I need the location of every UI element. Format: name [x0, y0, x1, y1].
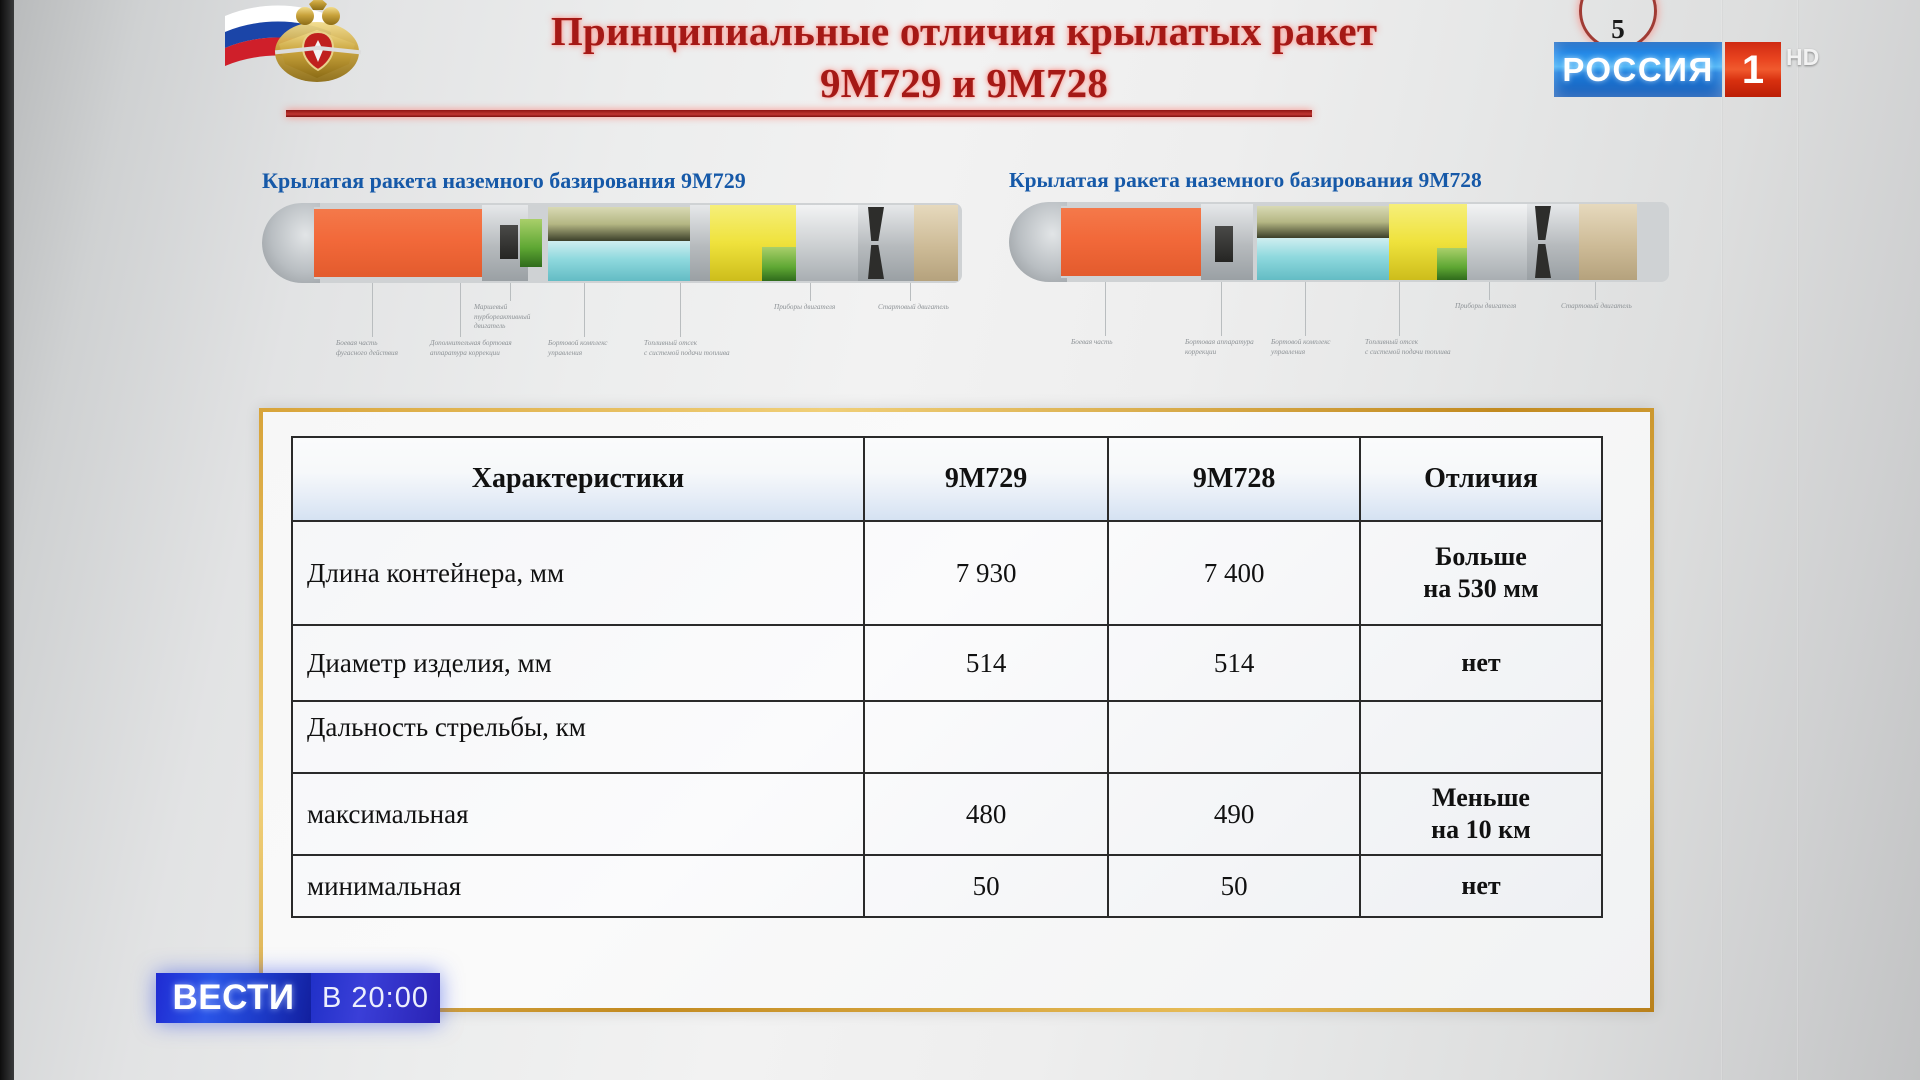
cell-value-9m728: 514 — [1108, 625, 1360, 701]
annotation-leader — [1595, 282, 1596, 300]
missile-section-booster — [1579, 204, 1637, 280]
cell-value-9m729: 50 — [864, 855, 1108, 917]
missile-section-nozzle — [1437, 248, 1471, 280]
missile-section-olive-tank — [1257, 206, 1389, 238]
cell-difference: Меньшена 10 км — [1360, 773, 1602, 855]
annotation-label: Маршевый турбореактивный двигатель — [474, 303, 560, 332]
screen-left-bezel — [0, 0, 14, 1080]
screen-panel-seam — [1797, 0, 1799, 1080]
annotation-label: Боевая часть фугасного действия — [336, 339, 422, 358]
column-header-9m728: 9М728 — [1108, 437, 1360, 521]
hd-badge: HD — [1786, 44, 1819, 71]
missile-nose-cone — [262, 203, 320, 283]
cell-difference: нет — [1360, 855, 1602, 917]
missile-section-instruments — [858, 205, 914, 281]
missile-section-olive-tank — [548, 207, 690, 241]
slide-header: Принципиальные отличия крылатых ракет 9М… — [14, 0, 1920, 128]
missile-cutaway-9m729 — [262, 203, 962, 283]
table-header-row: Характеристики 9М729 9М728 Отличия — [292, 437, 1602, 521]
missile-section-dark-bay — [1215, 226, 1233, 262]
slide-number: 5 — [1582, 14, 1654, 45]
channel-name-label: РОССИЯ — [1562, 51, 1713, 89]
cell-difference: Большена 530 мм — [1360, 521, 1602, 625]
missile-section-frame — [690, 205, 712, 281]
missile-section-green-bay — [520, 219, 542, 267]
annotation-label: Стартовый двигатель — [1561, 302, 1647, 312]
cell-value-9m729: 7 930 — [864, 521, 1108, 625]
title-underline-rule — [286, 110, 1312, 117]
cell-value-9m728: 7 400 — [1108, 521, 1360, 625]
channel-number-label: 1 — [1742, 50, 1764, 90]
missile-annotations-9m728: Боевая часть Бортовая аппаратура коррекц… — [1009, 282, 1669, 360]
channel-name-block: РОССИЯ — [1554, 42, 1722, 97]
annotation-leader — [680, 283, 681, 337]
screen-panel-seam — [1721, 0, 1723, 1080]
annotation-leader — [1489, 282, 1490, 300]
page-title: Принципиальные отличия крылатых ракет 9М… — [394, 6, 1534, 109]
annotation-leader — [1221, 282, 1222, 336]
annotation-leader — [584, 283, 585, 337]
program-name-label: ВЕСТИ — [172, 978, 294, 1018]
column-header-characteristics: Характеристики — [292, 437, 864, 521]
table-row: Дальность стрельбы, км — [292, 701, 1602, 773]
cell-parameter: Диаметр изделия, мм — [292, 625, 864, 701]
missile-warhead-section — [1061, 206, 1201, 278]
missile-section-dark-bay — [500, 225, 518, 259]
missile-caption-9m729: Крылатая ракета наземного базирования 9М… — [262, 168, 962, 194]
cell-parameter: Дальность стрельбы, км — [292, 701, 864, 773]
comparison-table: Характеристики 9М729 9М728 Отличия Длина… — [291, 436, 1603, 918]
missile-section-turbojet — [1467, 204, 1527, 280]
missile-caption-9m728: Крылатая ракета наземного базирования 9М… — [1009, 168, 1669, 193]
missile-section-instruments — [1527, 204, 1579, 280]
broadcast-frame: Принципиальные отличия крылатых ракет 9М… — [0, 0, 1920, 1080]
cell-value-9m729: 480 — [864, 773, 1108, 855]
table-row: Длина контейнера, мм 7 930 7 400 Большен… — [292, 521, 1602, 625]
annotation-leader — [460, 283, 461, 337]
annotation-leader — [1105, 282, 1106, 336]
missile-nose-cone — [1009, 202, 1067, 282]
table-row: минимальная 50 50 нет — [292, 855, 1602, 917]
annotation-label: Дополнительная бортовая аппаратура корре… — [430, 339, 516, 358]
missile-section-fuel-tank — [548, 241, 690, 281]
cell-difference — [1360, 701, 1602, 773]
annotation-label: Бортовой комплекс управления — [548, 339, 634, 358]
program-name-block: ВЕСТИ — [156, 973, 311, 1023]
cell-value-9m728 — [1108, 701, 1360, 773]
annotation-label: Приборы двигателя — [1455, 302, 1541, 312]
channel-logo: РОССИЯ 1 HD — [1554, 42, 1819, 97]
annotation-label: Топливный отсек с системой подачи топлив… — [1365, 338, 1451, 357]
cell-difference: нет — [1360, 625, 1602, 701]
annotation-label: Приборы двигателя — [774, 303, 860, 313]
cell-value-9m729 — [864, 701, 1108, 773]
table-row: Диаметр изделия, мм 514 514 нет — [292, 625, 1602, 701]
program-lower-third: ВЕСТИ В 20:00 — [156, 973, 440, 1023]
program-time-block: В 20:00 — [311, 973, 440, 1023]
comparison-table-frame: Характеристики 9М729 9М728 Отличия Длина… — [259, 408, 1654, 1012]
missile-section-booster — [914, 205, 958, 281]
annotation-label: Боевая часть — [1071, 338, 1157, 348]
missile-section-fuel-tank — [1257, 238, 1389, 280]
russian-mod-emblem-icon — [219, 0, 389, 98]
missile-diagram-9m729: Крылатая ракета наземного базирования 9М… — [262, 168, 962, 361]
annotation-leader — [510, 283, 511, 301]
title-line-1: Принципиальные отличия крылатых ракет — [551, 8, 1377, 54]
annotation-leader — [810, 283, 811, 301]
annotation-leader — [372, 283, 373, 337]
missile-diagram-9m728: Крылатая ракета наземного базирования 9М… — [1009, 168, 1669, 360]
presentation-slide: Принципиальные отличия крылатых ракет 9М… — [14, 0, 1920, 1080]
annotation-label: Топливный отсек с системой подачи топлив… — [644, 339, 730, 358]
channel-number-block: 1 — [1725, 42, 1781, 97]
table-row: максимальная 480 490 Меньшена 10 км — [292, 773, 1602, 855]
cell-parameter: максимальная — [292, 773, 864, 855]
column-header-differences: Отличия — [1360, 437, 1602, 521]
cell-parameter: минимальная — [292, 855, 864, 917]
cell-value-9m728: 50 — [1108, 855, 1360, 917]
annotation-label: Стартовый двигатель — [878, 303, 964, 313]
missile-section-turbojet — [796, 205, 858, 281]
annotation-leader — [1399, 282, 1400, 336]
cell-value-9m728: 490 — [1108, 773, 1360, 855]
column-header-9m729: 9М729 — [864, 437, 1108, 521]
missile-annotations-9m729: Боевая часть фугасного действия Маршевый… — [262, 283, 962, 361]
cell-parameter: Длина контейнера, мм — [292, 521, 864, 625]
missile-section-nozzle — [762, 247, 798, 281]
cell-value-9m729: 514 — [864, 625, 1108, 701]
annotation-label: Бортовая аппаратура коррекции — [1185, 338, 1271, 357]
title-line-2: 9М729 и 9М728 — [394, 58, 1534, 110]
annotation-label: Бортовой комплекс управления — [1271, 338, 1357, 357]
missile-warhead-section — [314, 207, 482, 279]
annotation-leader — [910, 283, 911, 301]
program-time-label: В 20:00 — [322, 982, 429, 1015]
missile-cutaway-9m728 — [1009, 202, 1669, 282]
annotation-leader — [1305, 282, 1306, 336]
